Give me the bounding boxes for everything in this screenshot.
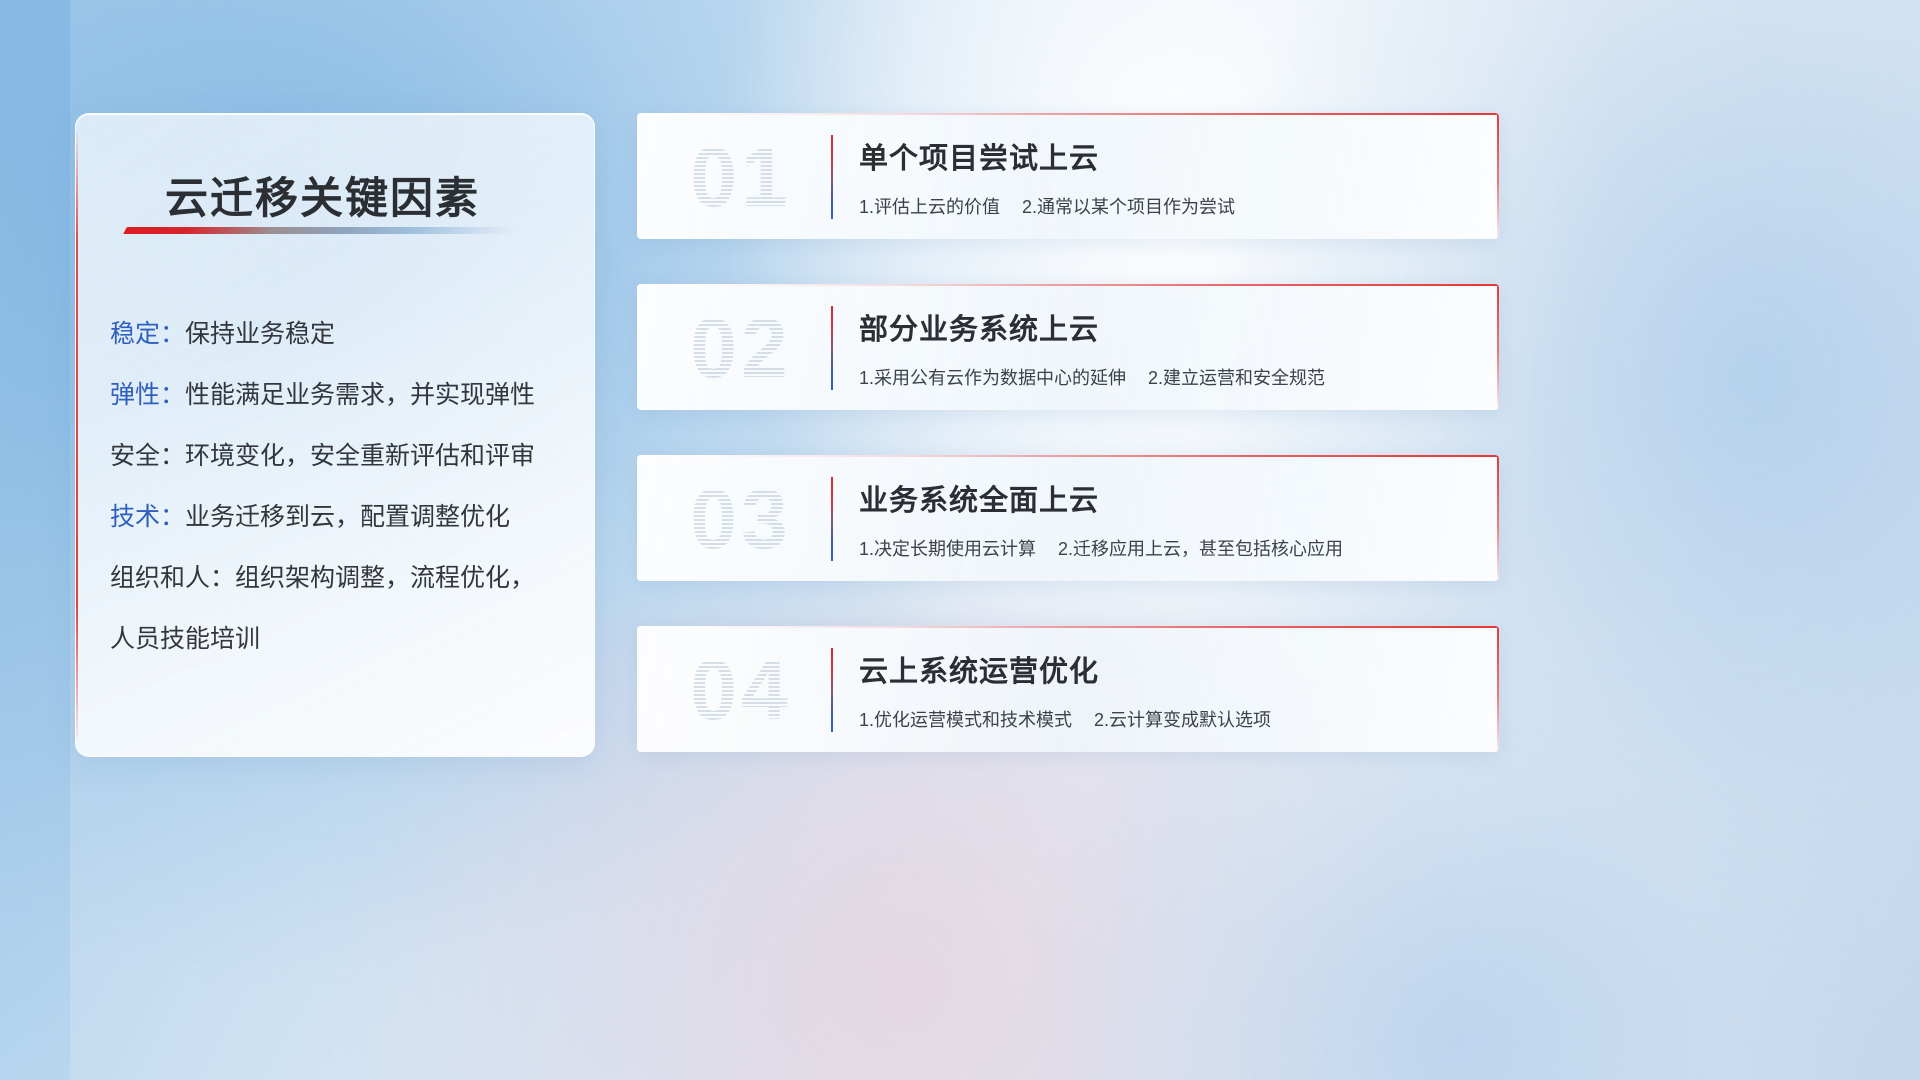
card-right-accent-02 [1497,284,1499,410]
card-top-accent-01 [637,113,1499,115]
step-title-02: 部分业务系统上云 [859,306,1473,348]
factor-text-organization: 组织架构调整，流程优化， [235,564,535,592]
factor-row-security: 安全：环境变化，安全重新评估和评审 [110,426,570,487]
step-card-01[interactable]: 01 单个项目尝试上云 1.评估上云的价值2.通常以某个项目作为尝试 [637,113,1499,239]
title-underline-rule [123,227,515,234]
factor-text-stability: 保持业务稳定 [185,320,335,348]
factor-label-elasticity: 弹性： [110,381,185,409]
step-number-04: 04 [661,642,821,738]
step-body-04: 云上系统运营优化 1.优化运营模式和技术模式2.云计算变成默认选项 [859,648,1473,732]
step-body-01: 单个项目尝试上云 1.评估上云的价值2.通常以某个项目作为尝试 [859,135,1473,219]
factor-text-organization-cont: 人员技能培训 [110,625,260,653]
step-card-02[interactable]: 02 部分业务系统上云 1.采用公有云作为数据中心的延伸2.建立运营和安全规范 [637,284,1499,410]
card-top-accent-02 [637,284,1499,286]
factor-text-technology: 业务迁移到云，配置调整优化 [185,503,510,531]
step-point-01-1: 1.评估上云的价值 [859,197,1000,217]
card-right-accent-01 [1497,113,1499,239]
step-divider-03 [831,477,833,561]
step-number-02: 02 [661,300,821,396]
factor-row-organization-cont: 人员技能培训 [110,609,570,670]
factor-row-stability: 稳定：保持业务稳定 [110,304,570,365]
factor-label-stability: 稳定： [110,320,185,348]
panel-left-accent-bar [76,132,78,738]
factor-text-security: 环境变化，安全重新评估和评审 [185,442,535,470]
step-title-01: 单个项目尝试上云 [859,135,1473,177]
factor-label-security: 安全： [110,442,185,470]
step-point-04-2: 2.云计算变成默认选项 [1094,710,1271,730]
step-card-04[interactable]: 04 云上系统运营优化 1.优化运营模式和技术模式2.云计算变成默认选项 [637,626,1499,752]
step-point-03-1: 1.决定长期使用云计算 [859,539,1036,559]
factor-list: 稳定：保持业务稳定 弹性：性能满足业务需求，并实现弹性 安全：环境变化，安全重新… [110,304,570,670]
step-points-01: 1.评估上云的价值2.通常以某个项目作为尝试 [859,193,1473,219]
factor-label-technology: 技术： [110,503,185,531]
page-title: 云迁移关键因素 [165,164,480,226]
slide-content: 云迁移关键因素 稳定：保持业务稳定 弹性：性能满足业务需求，并实现弹性 安全：环… [0,0,1920,1080]
card-right-accent-04 [1497,626,1499,752]
factor-row-organization: 组织和人：组织架构调整，流程优化， [110,548,570,609]
step-card-03[interactable]: 03 业务系统全面上云 1.决定长期使用云计算2.迁移应用上云，甚至包括核心应用 [637,455,1499,581]
step-point-02-2: 2.建立运营和安全规范 [1148,368,1325,388]
step-point-03-2: 2.迁移应用上云，甚至包括核心应用 [1058,539,1343,559]
step-title-04: 云上系统运营优化 [859,648,1473,690]
factor-row-elasticity: 弹性：性能满足业务需求，并实现弹性 [110,365,570,426]
step-points-03: 1.决定长期使用云计算2.迁移应用上云，甚至包括核心应用 [859,535,1473,561]
step-points-02: 1.采用公有云作为数据中心的延伸2.建立运营和安全规范 [859,364,1473,390]
migration-steps-list: 01 单个项目尝试上云 1.评估上云的价值2.通常以某个项目作为尝试 02 部分… [637,113,1499,797]
step-divider-01 [831,135,833,219]
step-point-04-1: 1.优化运营模式和技术模式 [859,710,1072,730]
card-right-accent-03 [1497,455,1499,581]
step-title-03: 业务系统全面上云 [859,477,1473,519]
step-divider-02 [831,306,833,390]
step-divider-04 [831,648,833,732]
key-factors-panel: 云迁移关键因素 稳定：保持业务稳定 弹性：性能满足业务需求，并实现弹性 安全：环… [75,113,595,757]
factor-row-technology: 技术：业务迁移到云，配置调整优化 [110,487,570,548]
card-top-accent-04 [637,626,1499,628]
factor-text-elasticity: 性能满足业务需求，并实现弹性 [185,381,535,409]
step-body-03: 业务系统全面上云 1.决定长期使用云计算2.迁移应用上云，甚至包括核心应用 [859,477,1473,561]
factor-label-organization: 组织和人： [110,564,235,592]
step-number-03: 03 [661,471,821,567]
step-body-02: 部分业务系统上云 1.采用公有云作为数据中心的延伸2.建立运营和安全规范 [859,306,1473,390]
card-top-accent-03 [637,455,1499,457]
step-point-01-2: 2.通常以某个项目作为尝试 [1022,197,1235,217]
step-points-04: 1.优化运营模式和技术模式2.云计算变成默认选项 [859,706,1473,732]
step-point-02-1: 1.采用公有云作为数据中心的延伸 [859,368,1126,388]
step-number-01: 01 [661,129,821,225]
